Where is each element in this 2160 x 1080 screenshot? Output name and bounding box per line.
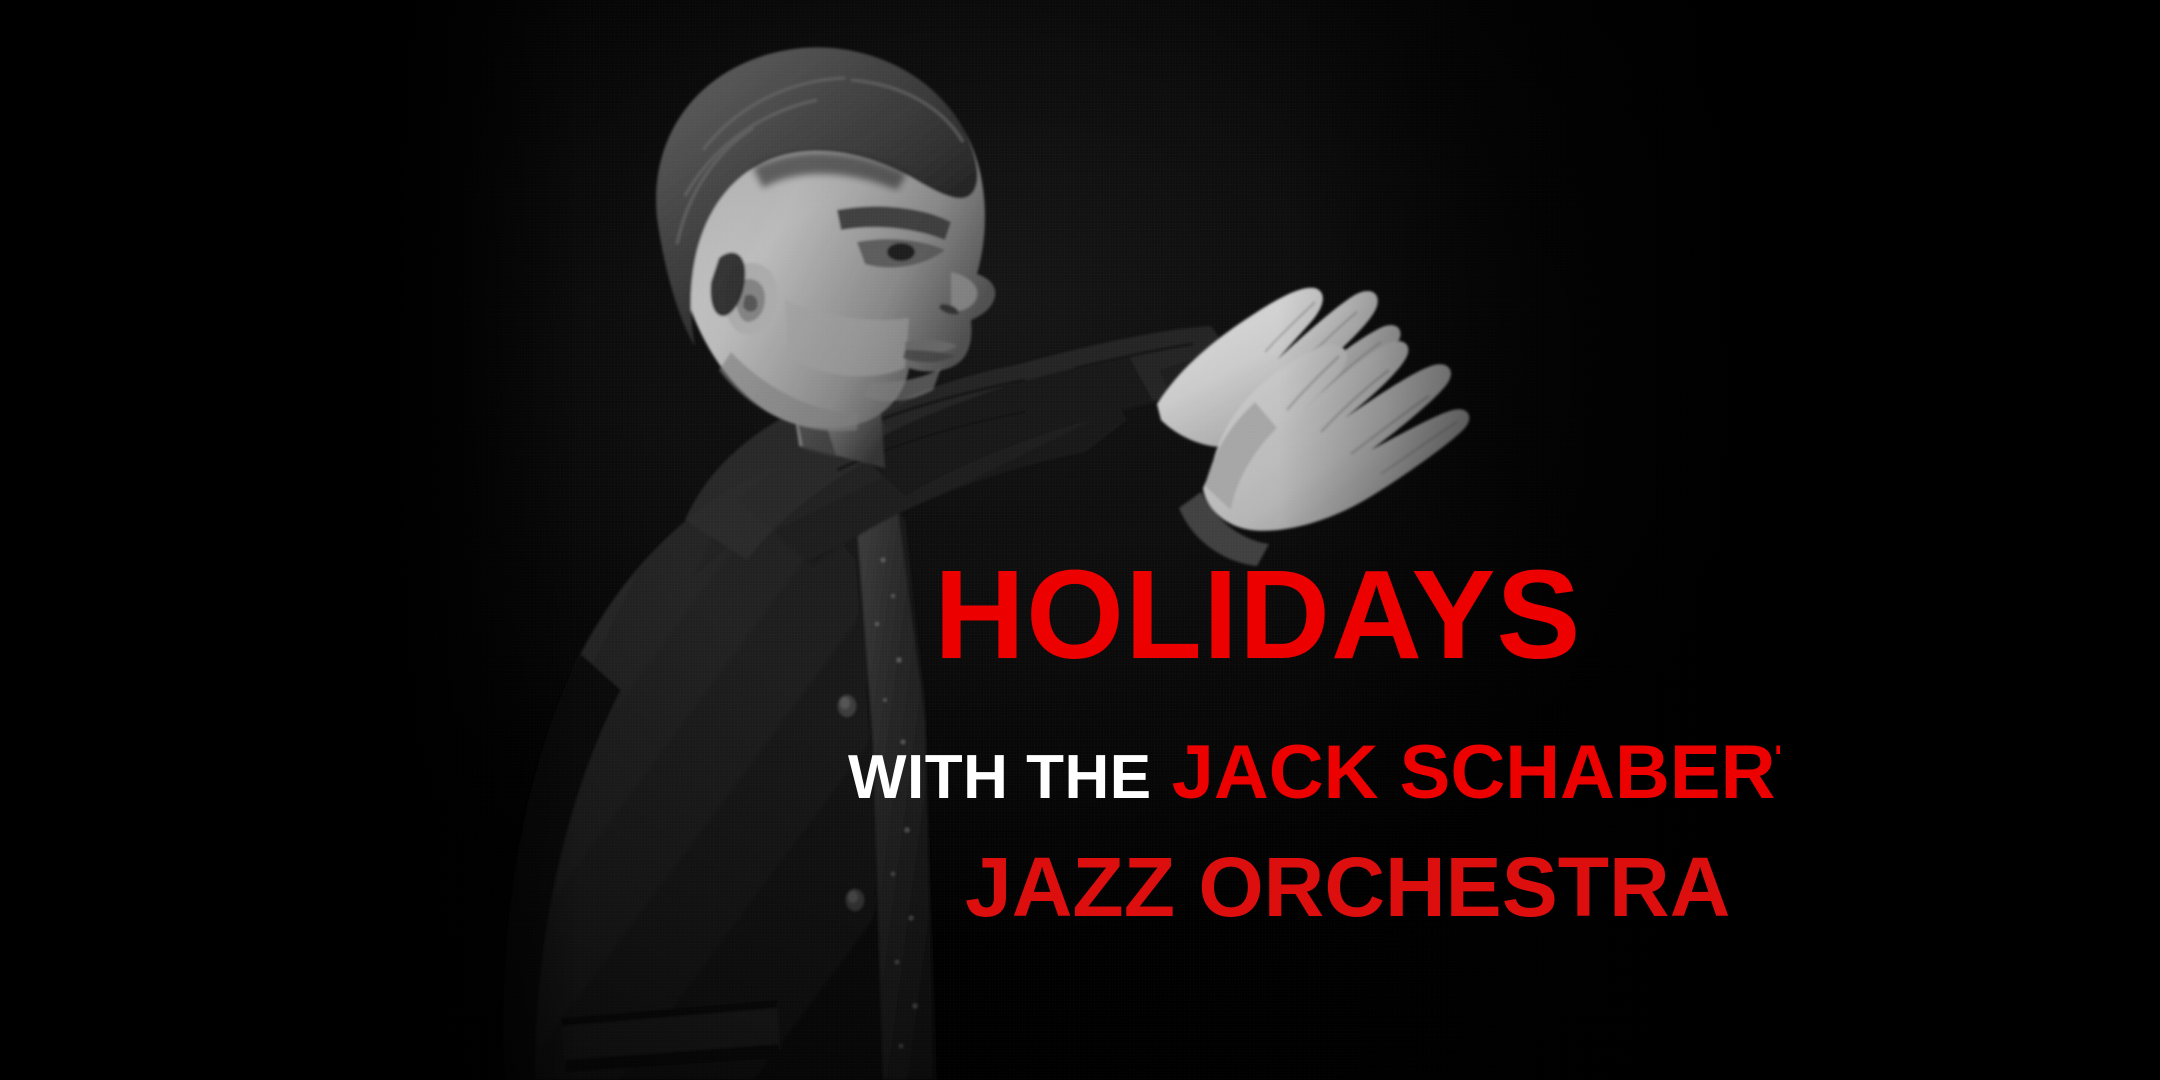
headline-jazz-orchestra: JAZZ ORCHESTRA [965, 845, 1730, 929]
poster-artwork: HOLIDAYS WITH THE JACK SCHABERT JAZZ ORC… [385, 0, 1780, 1080]
headline-jack-schabert: JACK SCHABERT [1172, 735, 1780, 811]
poster-canvas: HOLIDAYS WITH THE JACK SCHABERT JAZZ ORC… [0, 0, 2160, 1080]
letterbox-bar-left [0, 0, 385, 1080]
letterbox-bar-right [1780, 0, 2160, 1080]
headline-holidays: HOLIDAYS [934, 552, 1581, 678]
headline-with-the: WITH THE [848, 747, 1152, 809]
headline-with-the-line: WITH THE JACK SCHABERT [848, 735, 1780, 811]
